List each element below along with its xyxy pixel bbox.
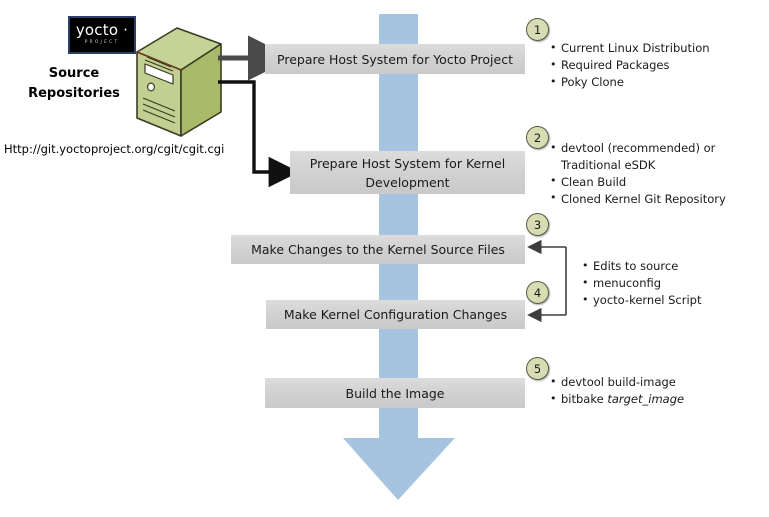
list-item: Cloned Kernel Git Repository xyxy=(550,191,765,208)
step-badge-3: 3 xyxy=(526,213,549,236)
step-box-2-label: Prepare Host System for Kernel Developme… xyxy=(296,154,519,192)
source-repositories-label: Source Repositories xyxy=(14,64,134,104)
list-item: devtool (recommended) or Traditional eSD… xyxy=(550,140,765,173)
step-box-3[interactable]: Make Changes to the Kernel Source Files xyxy=(231,235,525,264)
list-item: yocto-kernel Script xyxy=(582,292,762,309)
list-item: Required Packages xyxy=(550,57,765,74)
step-badge-4-number: 4 xyxy=(534,286,541,300)
bitbake-target-image-italic: target_image xyxy=(607,392,684,406)
step-box-5[interactable]: Build the Image xyxy=(265,378,525,408)
step-box-5-label: Build the Image xyxy=(346,384,445,403)
list-item: Clean Build xyxy=(550,174,765,191)
step-badge-1-number: 1 xyxy=(534,23,541,37)
source-repositories-label-line2: Repositories xyxy=(14,84,134,104)
step-badge-1: 1 xyxy=(526,18,549,41)
diagram-canvas: yocto · PROJECT Source Repositories Http… xyxy=(0,0,769,517)
yocto-logo-wordmark: yocto · xyxy=(76,23,128,38)
step-badge-4: 4 xyxy=(526,281,549,304)
list-item: devtool build-image xyxy=(550,374,765,391)
step-box-4[interactable]: Make Kernel Configuration Changes xyxy=(266,300,525,329)
list-item: bitbake target_image xyxy=(550,391,765,408)
step-box-1[interactable]: Prepare Host System for Yocto Project xyxy=(265,44,525,74)
step-notes-2: devtool (recommended) or Traditional eSD… xyxy=(550,140,765,208)
step-badge-2-number: 2 xyxy=(534,131,541,145)
server-tower-icon xyxy=(133,26,225,138)
list-item: Current Linux Distribution xyxy=(550,40,765,57)
step-badge-5: 5 xyxy=(526,357,549,380)
step-box-2[interactable]: Prepare Host System for Kernel Developme… xyxy=(290,151,525,194)
step-notes-5: devtool build-image bitbake target_image xyxy=(550,374,765,408)
step-notes-1: Current Linux Distribution Required Pack… xyxy=(550,40,765,91)
source-repositories-url: Http://git.yoctoproject.org/cgit/cgit.cg… xyxy=(4,142,224,156)
step-badge-3-number: 3 xyxy=(534,218,541,232)
step-box-4-label: Make Kernel Configuration Changes xyxy=(284,305,507,324)
yocto-logo-subtext: PROJECT xyxy=(85,39,120,47)
yocto-project-logo: yocto · PROJECT xyxy=(68,16,136,54)
source-repositories-label-line1: Source xyxy=(14,64,134,84)
list-item: Edits to source xyxy=(582,258,762,275)
list-item: menuconfig xyxy=(582,275,762,292)
list-item: Poky Clone xyxy=(550,74,765,91)
shared-notes-steps-3-4: Edits to source menuconfig yocto-kernel … xyxy=(582,258,762,309)
step-badge-2: 2 xyxy=(526,126,549,149)
step-box-3-label: Make Changes to the Kernel Source Files xyxy=(251,240,505,259)
step-box-1-label: Prepare Host System for Yocto Project xyxy=(277,50,513,69)
connector-server-to-step2 xyxy=(218,82,272,172)
step-badge-5-number: 5 xyxy=(534,362,541,376)
